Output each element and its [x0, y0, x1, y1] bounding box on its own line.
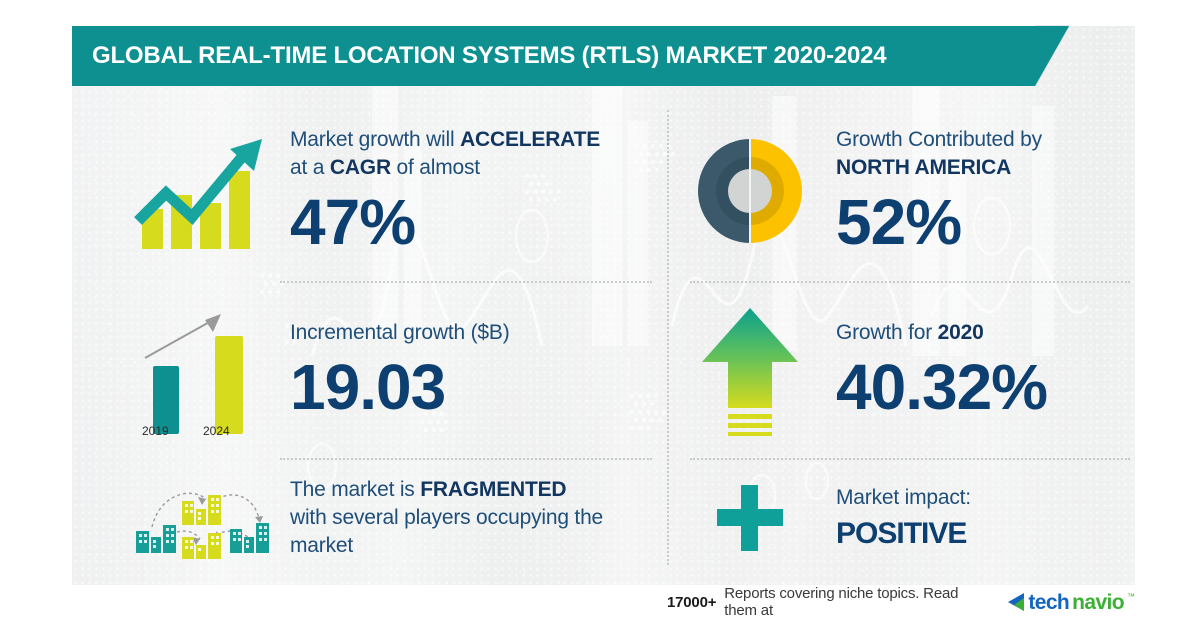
incremental-text-block: Incremental growth ($B) 19.03	[290, 319, 510, 421]
yearly-growth-value: 40.32%	[836, 353, 1047, 421]
footer: 17000+ Reports covering niche topics. Re…	[667, 585, 1135, 619]
cagr-value: 47%	[290, 188, 600, 256]
bar-label-2024: 2024	[203, 424, 230, 438]
stat-block-regional-contribution: Growth Contributed by NORTH AMERICA 52%	[690, 108, 1135, 273]
market-impact-value: POSITIVE	[836, 516, 971, 552]
cagr-label: Market growth will ACCELERATE at a CAGR …	[290, 126, 600, 182]
stat-block-market-impact: Market impact: POSITIVE	[690, 470, 1135, 565]
growth-bar-chart-icon	[130, 126, 270, 256]
left-divider-2	[280, 458, 652, 460]
brand-trademark: ™	[1127, 592, 1135, 601]
market-structure-text-block: The market is FRAGMENTED with several pl…	[290, 476, 603, 560]
yearly-growth-label: Growth for 2020	[836, 319, 1047, 347]
page-title: GLOBAL REAL-TIME LOCATION SYSTEMS (RTLS)…	[92, 26, 886, 86]
brand-text-navio: navio	[1072, 591, 1124, 615]
infographic-root: GLOBAL REAL-TIME LOCATION SYSTEMS (RTLS)…	[0, 0, 1200, 627]
right-divider-2	[690, 458, 1130, 460]
two-bars-arrow-icon: 2019 2024	[130, 300, 270, 440]
cagr-text-block: Market growth will ACCELERATE at a CAGR …	[290, 126, 600, 256]
bar-2024	[215, 336, 243, 434]
fragmented-cities-icon	[130, 473, 270, 563]
yearly-growth-text-block: Growth for 2020 40.32%	[836, 319, 1047, 421]
column-divider	[667, 110, 669, 565]
regional-text-block: Growth Contributed by NORTH AMERICA 52%	[836, 126, 1042, 256]
right-divider-1	[690, 281, 1130, 283]
stat-block-incremental-growth: 2019 2024 Incremental growth ($B) 19.03	[130, 295, 650, 445]
header-fold-corner	[1035, 26, 1069, 86]
incremental-growth-value: 19.03	[290, 353, 510, 421]
bar-label-2019: 2019	[142, 424, 169, 438]
up-arrow-icon	[690, 300, 810, 440]
regional-contribution-label: Growth Contributed by NORTH AMERICA	[836, 126, 1042, 182]
market-impact-text-block: Market impact: POSITIVE	[836, 484, 971, 552]
technavio-mark-icon	[1007, 592, 1025, 612]
stat-block-yearly-growth: Growth for 2020 40.32%	[690, 295, 1135, 445]
incremental-growth-label: Incremental growth ($B)	[290, 319, 510, 347]
stat-block-cagr: Market growth will ACCELERATE at a CAGR …	[130, 108, 650, 273]
left-divider-1	[280, 281, 652, 283]
technavio-logo[interactable]: technavio™	[1007, 589, 1135, 615]
footer-tagline: Reports covering niche topics. Read them…	[724, 585, 989, 619]
footer-report-count: 17000+	[667, 594, 716, 611]
stat-block-market-structure: The market is FRAGMENTED with several pl…	[130, 470, 660, 565]
brand-text-tech: tech	[1028, 591, 1069, 615]
donut-chart-icon	[690, 131, 810, 251]
regional-contribution-value: 52%	[836, 188, 1042, 256]
market-impact-label: Market impact:	[836, 484, 971, 512]
market-structure-label: The market is FRAGMENTED with several pl…	[290, 476, 603, 560]
plus-icon	[690, 473, 810, 563]
